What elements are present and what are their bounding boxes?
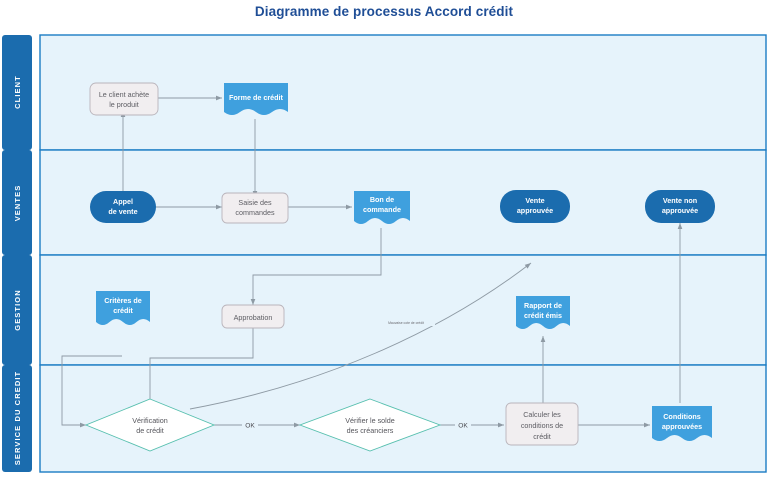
node-check-balance-line2: des créanciers [347, 426, 394, 435]
process-diagram: CLIENT VENTES GESTION SERVICE DU CREDIT [0, 33, 768, 475]
node-sales-call[interactable]: Appel de vente [90, 191, 156, 223]
node-terms-approved-line1: Conditions [663, 412, 701, 421]
edge-label-bad-credit: Mauvaise cote de crédit [377, 318, 435, 326]
node-calc-terms-line1: Calculer les [523, 410, 561, 419]
node-sales-call-line1: Appel [113, 197, 133, 206]
node-credit-check-line2: de crédit [136, 426, 164, 435]
node-client-buys-line2: le produit [109, 100, 139, 109]
node-purchase-order-line2: commande [363, 205, 401, 214]
node-sales-call-line2: de vente [108, 207, 137, 216]
page-title: Diagramme de processus Accord crédit [0, 4, 768, 19]
node-approval-line1: Approbation [234, 313, 273, 322]
edge-label-ok-2-text: OK [458, 423, 468, 430]
node-purchase-order-line1: Bon de [370, 195, 394, 204]
node-terms-approved-line2: approuvées [662, 422, 702, 431]
node-calc-terms[interactable]: Calculer les conditions de crédit [506, 403, 578, 445]
node-approval[interactable]: Approbation [222, 305, 284, 328]
node-check-balance-line1: Vérifier le solde [345, 416, 395, 425]
node-sale-approved[interactable]: Vente approuvée [500, 190, 570, 223]
node-order-entry-line2: commandes [235, 208, 275, 217]
node-credit-criteria-line1: Critères de [104, 296, 142, 305]
edge-label-ok-1: OK [242, 419, 258, 430]
node-credit-report-line2: crédit émis [524, 311, 562, 320]
node-sale-not-approved-line2: approuvée [662, 206, 698, 215]
node-credit-form-line1: Forme de crédit [229, 93, 284, 102]
node-calc-terms-line3: crédit [533, 432, 551, 441]
node-order-entry-line1: Saisie des [238, 198, 272, 207]
node-sale-not-approved-line1: Vente non [663, 196, 697, 205]
edge-label-bad-credit-text: Mauvaise cote de crédit [388, 321, 424, 325]
edge-label-ok-2: OK [455, 419, 471, 430]
node-credit-criteria-line2: crédit [113, 306, 133, 315]
node-calc-terms-line2: conditions de [521, 421, 563, 430]
node-sale-not-approved[interactable]: Vente non approuvée [645, 190, 715, 223]
lane-label-gestion: GESTION [13, 289, 22, 330]
lane-label-client: CLIENT [13, 75, 22, 109]
node-client-buys-line1: Le client achète [99, 90, 149, 99]
edge-label-ok-1-text: OK [245, 423, 255, 430]
lane-label-ventes: VENTES [13, 185, 22, 222]
lane-headers: CLIENT VENTES GESTION SERVICE DU CREDIT [2, 35, 32, 472]
node-credit-report-line1: Rapport de [524, 301, 562, 310]
node-client-buys[interactable]: Le client achète le produit [90, 83, 158, 115]
lane-label-credit: SERVICE DU CREDIT [13, 371, 22, 465]
node-sale-approved-line2: approuvée [517, 206, 553, 215]
node-credit-check-line1: Vérification [132, 416, 168, 425]
node-sale-approved-line1: Vente [525, 196, 544, 205]
node-order-entry[interactable]: Saisie des commandes [222, 193, 288, 223]
